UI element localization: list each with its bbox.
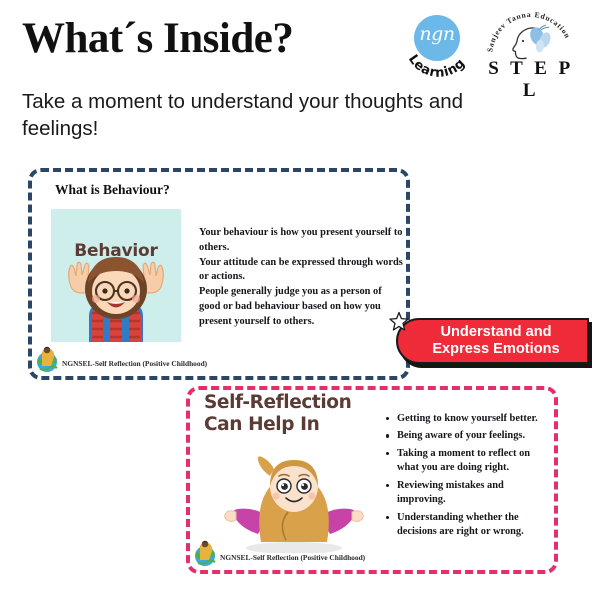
card-footer-self-reflection: NGNSEL-Self Reflection (Positive Childho… (190, 540, 554, 568)
card-footer-text: NGNSEL-Self Reflection (Positive Childho… (62, 359, 207, 368)
child-globe-icon (32, 346, 62, 374)
card-heading-self-reflection: Self-Reflection Can Help In (204, 392, 384, 436)
card-heading-behaviour: What is Behaviour? (55, 182, 170, 198)
behaviour-paragraph: Your attitude can be expressed through w… (199, 256, 404, 286)
badge-label: Understand and Express Emotions (406, 324, 586, 358)
page-title: What´s Inside? (22, 16, 293, 61)
list-item: Reviewing mistakes and improving. (386, 479, 546, 509)
svg-text:Sanjeev Tanna Education: Sanjeev Tanna Education (485, 10, 572, 53)
badge-label-line1: Understand and (406, 324, 586, 341)
svg-text:Learning: Learning (405, 52, 469, 81)
star-icon (388, 311, 410, 333)
ngn-learning-logo: ngn Learning (398, 12, 476, 84)
stepl-logo: Sanjeev Tanna Education S T E P L (483, 10, 579, 84)
badge-understand-express-emotions[interactable]: Understand and Express Emotions (396, 318, 592, 368)
list-item: Taking a moment to reflect on what you a… (386, 447, 546, 477)
page-subtitle: Take a moment to understand your thought… (22, 88, 542, 142)
card-footer-behaviour: NGNSEL-Self Reflection (Positive Childho… (32, 346, 406, 374)
ngn-learning-arc-text: Learning (398, 12, 476, 84)
stepl-wordmark: S T E P L (483, 58, 579, 102)
behaviour-illustration: Behavior (51, 209, 181, 342)
list-item: Understanding whether the decisions are … (386, 511, 546, 541)
behaviour-body-text: Your behaviour is how you present yourse… (199, 226, 404, 329)
card-self-reflection[interactable]: Self-Reflection Can Help In (186, 386, 558, 574)
page-header: What´s Inside? Take a moment to understa… (0, 0, 600, 155)
card-what-is-behaviour[interactable]: What is Behaviour? Behavior (28, 168, 410, 380)
child-globe-icon (190, 540, 220, 568)
child-cheering-icon (51, 209, 181, 342)
card-footer-text: NGNSEL-Self Reflection (Positive Childho… (220, 553, 365, 562)
reflection-benefits-list: Getting to know yourself better. Being a… (386, 412, 546, 543)
list-item: Getting to know yourself better. (386, 412, 546, 427)
list-item: Being aware of your feelings. (386, 429, 546, 444)
badge-label-line2: Express Emotions (406, 341, 586, 358)
behaviour-paragraph: People generally judge you as a person o… (199, 285, 404, 329)
girl-in-hijab-icon (214, 438, 374, 553)
behaviour-paragraph: Your behaviour is how you present yourse… (199, 226, 404, 256)
